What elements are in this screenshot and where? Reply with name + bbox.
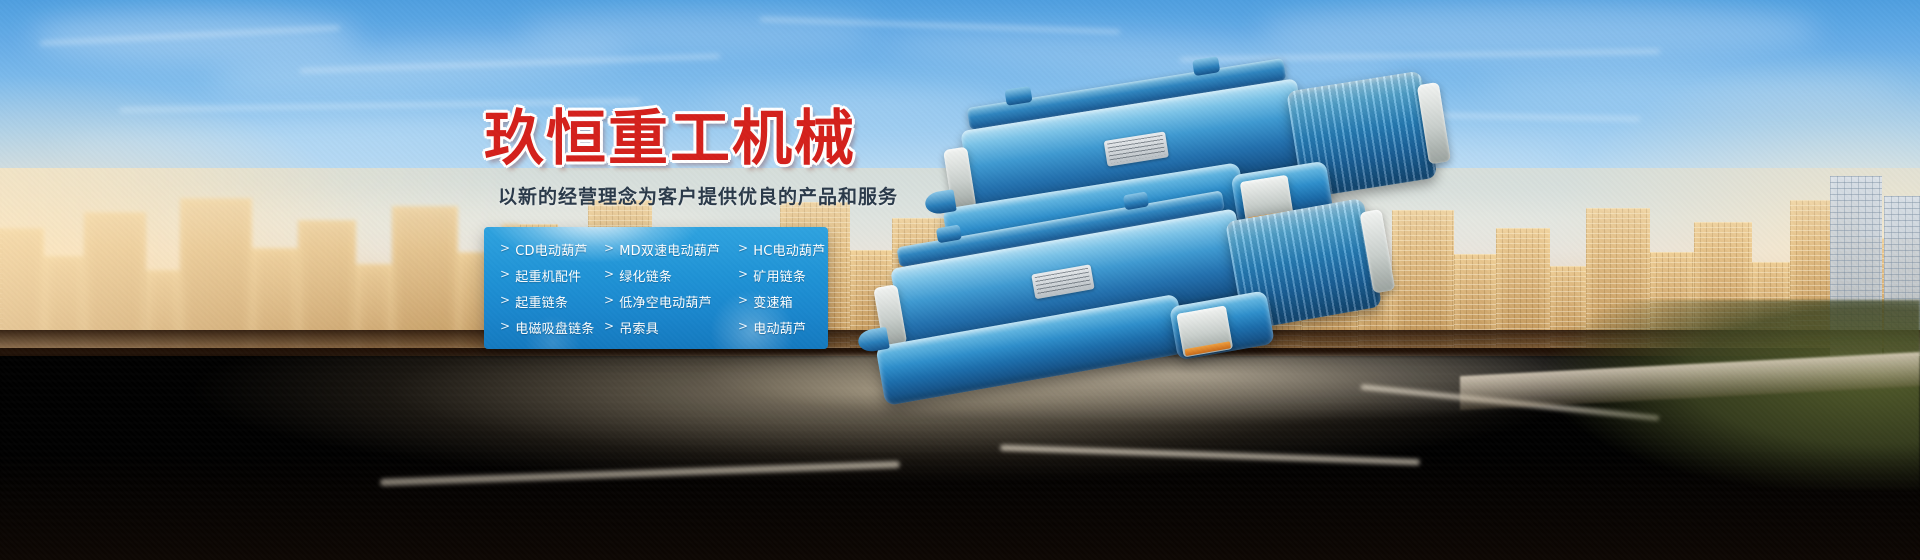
- cloud: [1480, 70, 1900, 104]
- product-link-electric-hoist[interactable]: > 电动葫芦: [738, 314, 828, 340]
- chevron-right-icon: >: [604, 268, 614, 280]
- product-links-grid: > CD电动葫芦 > MD双速电动葫芦 > HC电动葫芦 > 起重机配件 > 绿…: [484, 227, 828, 349]
- chevron-right-icon: >: [604, 320, 614, 332]
- product-link-lifting-chain[interactable]: > 起重链条: [500, 288, 604, 314]
- product-link-label: 起重链条: [515, 292, 568, 311]
- product-link-magnetic-chuck-chain[interactable]: > 电磁吸盘链条: [500, 314, 604, 340]
- product-links-panel: > CD电动葫芦 > MD双速电动葫芦 > HC电动葫芦 > 起重机配件 > 绿…: [484, 227, 828, 349]
- product-link-label: 矿用链条: [753, 266, 806, 285]
- product-link-label: 绿化链条: [619, 266, 672, 285]
- product-link-crane-parts[interactable]: > 起重机配件: [500, 262, 604, 288]
- chevron-right-icon: >: [738, 294, 748, 306]
- product-link-mining-chain[interactable]: > 矿用链条: [738, 262, 828, 288]
- product-link-label: 起重机配件: [515, 266, 581, 285]
- chevron-right-icon: >: [500, 242, 510, 254]
- product-link-label: 变速箱: [753, 292, 793, 311]
- page-subtitle: 以新的经营理念为客户提供优良的产品和服务: [498, 182, 898, 209]
- product-link-greening-chain[interactable]: > 绿化链条: [604, 262, 738, 288]
- product-link-label: 电磁吸盘链条: [515, 318, 594, 337]
- product-link-slings[interactable]: > 吊索具: [604, 314, 738, 340]
- cloud: [520, 8, 880, 54]
- product-link-label: 电动葫芦: [753, 318, 806, 337]
- chevron-right-icon: >: [500, 294, 510, 306]
- product-link-label: CD电动葫芦: [515, 240, 587, 259]
- chevron-right-icon: >: [500, 268, 510, 280]
- product-link-label: 吊索具: [619, 318, 659, 337]
- product-link-low-headroom-hoist[interactable]: > 低净空电动葫芦: [604, 288, 738, 314]
- product-link-label: HC电动葫芦: [753, 240, 825, 259]
- hero-banner: 玖恒重工机械 以新的经营理念为客户提供优良的产品和服务 > CD电动葫芦 > M…: [0, 0, 1920, 560]
- product-link-hc-electric-hoist[interactable]: > HC电动葫芦: [738, 236, 828, 262]
- product-link-gearbox[interactable]: > 变速箱: [738, 288, 828, 314]
- chevron-right-icon: >: [738, 320, 748, 332]
- product-link-cd-electric-hoist[interactable]: > CD电动葫芦: [500, 236, 604, 262]
- chevron-right-icon: >: [738, 268, 748, 280]
- bottom-vignette: [0, 450, 1920, 560]
- product-link-label: MD双速电动葫芦: [619, 240, 720, 259]
- product-link-md-dual-speed-hoist[interactable]: > MD双速电动葫芦: [604, 236, 738, 262]
- chevron-right-icon: >: [500, 320, 510, 332]
- chevron-right-icon: >: [604, 294, 614, 306]
- chevron-right-icon: >: [738, 242, 748, 254]
- page-title: 玖恒重工机械: [484, 108, 856, 171]
- chevron-right-icon: >: [604, 242, 614, 254]
- product-link-label: 低净空电动葫芦: [619, 292, 711, 311]
